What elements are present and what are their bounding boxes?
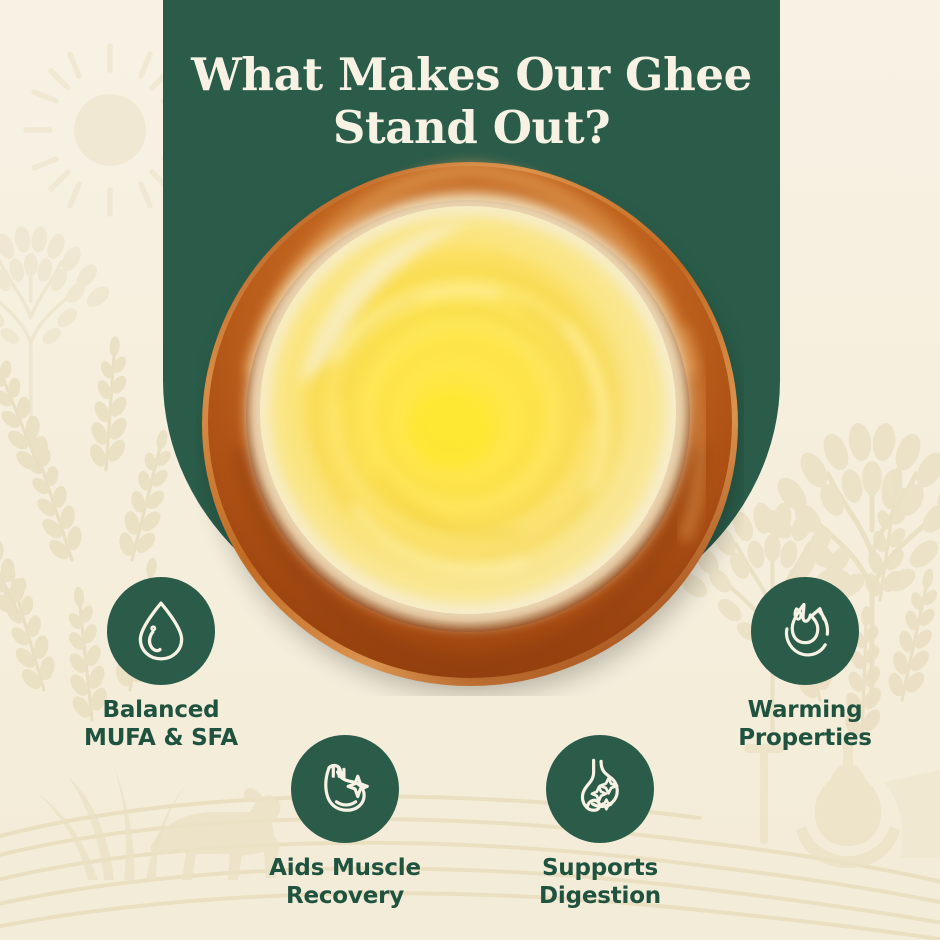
feature-icon-badge [107,577,215,685]
feature-icon-badge [291,735,399,843]
field-lines-motif [0,796,940,940]
feature-label: Balanced MUFA & SFA [84,696,238,752]
feature-label: Supports Digestion [539,854,661,910]
feature-warming-properties[interactable]: Warming Properties [685,577,925,752]
feature-balanced-mufa-sfa[interactable]: Balanced MUFA & SFA [41,577,281,752]
churn-pot-silhouette-motif [744,736,940,868]
poster-canvas: What Makes Our Ghee Stand Out? [0,0,940,940]
feature-icon-badge [546,735,654,843]
feature-aids-muscle-recovery[interactable]: Aids Muscle Recovery [225,735,465,910]
tall-grass-motif [38,762,188,880]
droplet-icon [128,598,194,664]
page-title-line-1: What Makes Our Ghee [163,48,780,101]
feature-supports-digestion[interactable]: Supports Digestion [480,735,720,910]
feature-label: Aids Muscle Recovery [269,854,421,910]
feature-label: Warming Properties [738,696,872,752]
flame-arrow-icon [771,597,839,665]
stomach-icon [566,755,634,823]
tree-motif-left [0,225,113,420]
feature-icon-badge [751,577,859,685]
page-title: What Makes Our Ghee Stand Out? [163,48,780,154]
page-title-line-2: Stand Out? [163,101,780,154]
flexed-bicep-icon [311,755,379,823]
